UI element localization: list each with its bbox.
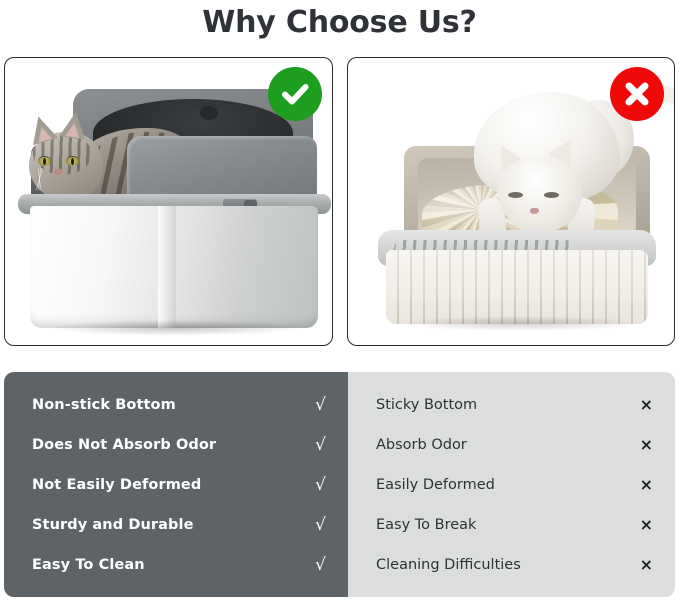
cat-eye-right <box>544 192 559 198</box>
table-row: Easily Deformed × <box>376 465 653 505</box>
cross-circle-icon <box>610 67 664 121</box>
litter-tray-shadow <box>400 316 640 331</box>
feature-comparison-table: Non-stick Bottom √ Does Not Absorb Odor … <box>4 372 675 597</box>
cross-mark-icon: × <box>640 475 653 494</box>
table-row: Cleaning Difficulties × <box>376 545 653 585</box>
cons-row-label: Absorb Odor <box>376 437 467 453</box>
cons-row-label: Easily Deformed <box>376 477 495 493</box>
pros-row-label: Non-stick Bottom <box>32 397 176 413</box>
table-row: Absorb Odor × <box>376 425 653 465</box>
table-row: Easy To Break × <box>376 505 653 545</box>
table-row: Does Not Absorb Odor √ <box>32 425 326 465</box>
litter-tray-base <box>386 250 648 324</box>
cat-nose <box>530 208 539 214</box>
pros-row-label: Not Easily Deformed <box>32 477 201 493</box>
cat-whiskers <box>17 168 63 190</box>
table-row: Sturdy and Durable √ <box>32 505 326 545</box>
table-row: Non-stick Bottom √ <box>32 385 326 425</box>
cross-mark-icon: × <box>640 515 653 534</box>
cross-mark-icon: × <box>640 555 653 574</box>
cat-eye-right <box>66 156 79 166</box>
table-row: Sticky Bottom × <box>376 385 653 425</box>
pros-row-label: Does Not Absorb Odor <box>32 437 216 453</box>
pros-column: Non-stick Bottom √ Does Not Absorb Odor … <box>4 372 348 597</box>
check-mark-icon: √ <box>315 475 326 495</box>
litter-box-shadow <box>49 320 301 336</box>
product-comparison-cards <box>4 57 675 346</box>
pros-row-label: Easy To Clean <box>32 557 145 573</box>
page-title: Why Choose Us? <box>0 2 679 44</box>
check-mark-icon: √ <box>315 555 326 575</box>
cons-column: Sticky Bottom × Absorb Odor × Easily Def… <box>348 372 675 597</box>
good-product-card[interactable] <box>4 57 333 346</box>
cons-row-label: Sticky Bottom <box>376 397 477 413</box>
cons-row-label: Easy To Break <box>376 517 476 533</box>
cat-eye-left <box>508 192 523 198</box>
table-row: Easy To Clean √ <box>32 545 326 585</box>
cons-row-label: Cleaning Difficulties <box>376 557 521 573</box>
cross-mark-icon: × <box>640 395 653 414</box>
bad-product-card[interactable] <box>347 57 676 346</box>
check-mark-icon: √ <box>315 515 326 535</box>
check-circle-icon <box>268 67 322 121</box>
cat-eye-left <box>38 156 51 166</box>
table-row: Not Easily Deformed √ <box>32 465 326 505</box>
check-mark-icon: √ <box>315 395 326 415</box>
check-mark-icon: √ <box>315 435 326 455</box>
pros-row-label: Sturdy and Durable <box>32 517 194 533</box>
cross-mark-icon: × <box>640 435 653 454</box>
cat-ear-right <box>59 110 88 139</box>
litter-box-steel-basin <box>30 206 318 328</box>
